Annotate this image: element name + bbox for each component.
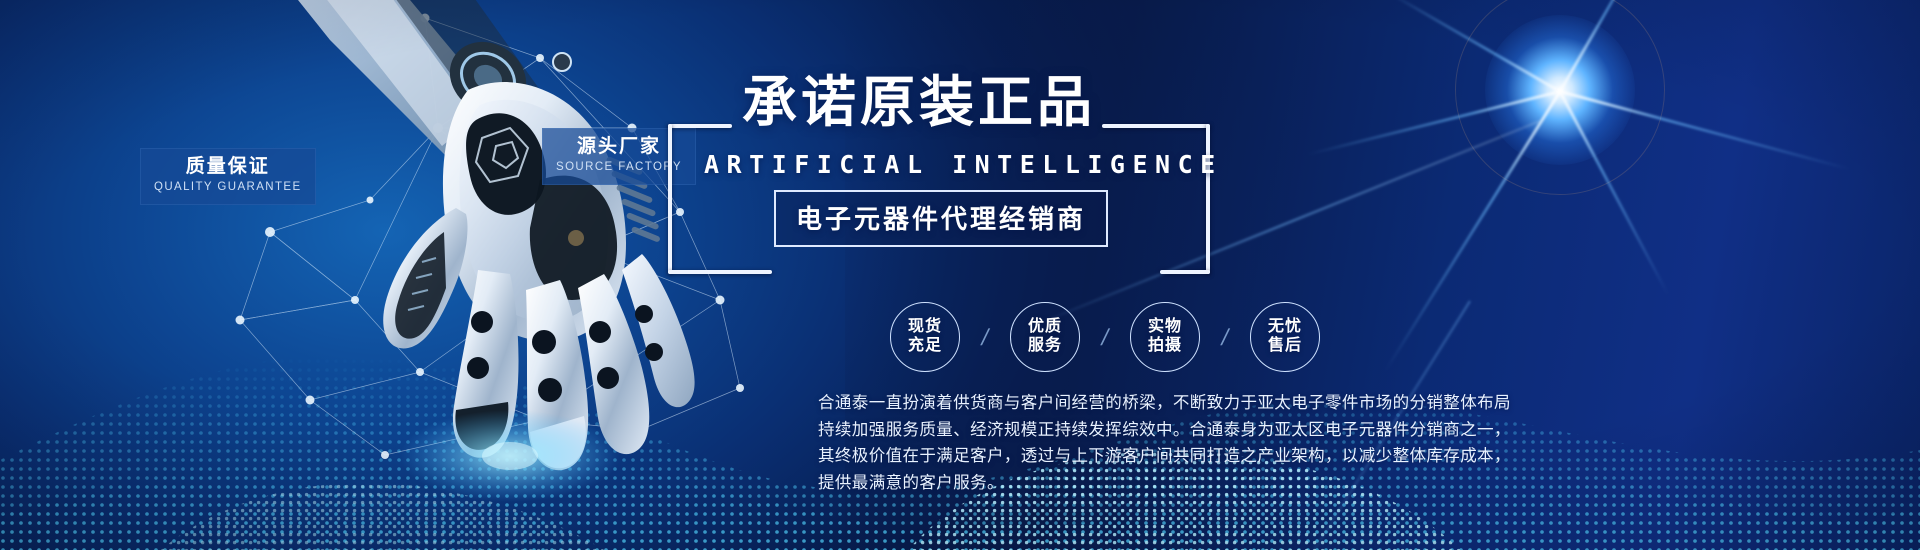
badge-worry-free-line1: 无忧 (1268, 318, 1302, 337)
bracket-right-vertical (1206, 124, 1210, 274)
description-line-2: 持续加强服务质量、经济规模正持续发挥综效中。合通泰身为亚太区电子元器件分销商之一… (818, 417, 1638, 444)
promo-banner: 质量保证 QUALITY GUARANTEE 源头厂家 SOURCE FACTO… (0, 0, 1920, 550)
badge-real-photo-line1: 实物 (1148, 318, 1182, 337)
chip-quality-en: QUALITY GUARANTEE (154, 179, 302, 196)
badge-separator-3: / (1197, 324, 1253, 351)
description-line-3: 其终极价值在于满足客户，透过与上下游客户间共同打造之产业架构，以减少整体库存成本… (818, 443, 1638, 470)
badge-separator-2: / (1077, 324, 1133, 351)
badge-spot-stock-line1: 现货 (908, 318, 942, 337)
description-line-4: 提供最满意的客户服务。 (818, 470, 1638, 497)
headline-boxed-subtitle-text: 电子元器件代理经销商 (796, 204, 1086, 234)
badge-worry-free-aftersales: 无忧 售后 (1250, 302, 1320, 372)
headline-boxed-subtitle: 电子元器件代理经销商 (774, 190, 1108, 247)
chip-quality-cn: 质量保证 (154, 155, 302, 179)
badge-separator-1: / (957, 324, 1013, 351)
chip-quality-guarantee: 质量保证 QUALITY GUARANTEE (140, 148, 316, 205)
badge-worry-free-line2: 售后 (1268, 337, 1302, 356)
bracket-left-vertical (668, 124, 672, 274)
headline-block: 承诺原装正品 ARTIFICIAL INTELLIGENCE 电子元器件代理经销… (660, 78, 1280, 268)
badge-spot-stock: 现货 充足 (890, 302, 960, 372)
badge-real-photo: 实物 拍摄 (1130, 302, 1200, 372)
headline-chinese: 承诺原装正品 (742, 74, 1096, 132)
badge-quality-service-line1: 优质 (1028, 318, 1062, 337)
bracket-top-left (668, 124, 732, 128)
bracket-bottom-right (1160, 270, 1210, 274)
badge-quality-service: 优质 服务 (1010, 302, 1080, 372)
headline-english: ARTIFICIAL INTELLIGENCE (704, 150, 1223, 179)
badge-real-photo-line2: 拍摄 (1148, 337, 1182, 356)
bracket-top-right (1102, 124, 1210, 128)
feature-badge-row: 现货 充足 / 优质 服务 / 实物 拍摄 / 无忧 售后 (890, 302, 1320, 372)
description-paragraph: 合通泰一直扮演着供货商与客户间经营的桥梁，不断致力于亚太电子零件市场的分销整体布… (818, 390, 1638, 497)
badge-quality-service-line2: 服务 (1028, 337, 1062, 356)
description-line-1: 合通泰一直扮演着供货商与客户间经营的桥梁，不断致力于亚太电子零件市场的分销整体布… (818, 390, 1638, 417)
badge-spot-stock-line2: 充足 (908, 337, 942, 356)
bracket-bottom-left (668, 270, 772, 274)
